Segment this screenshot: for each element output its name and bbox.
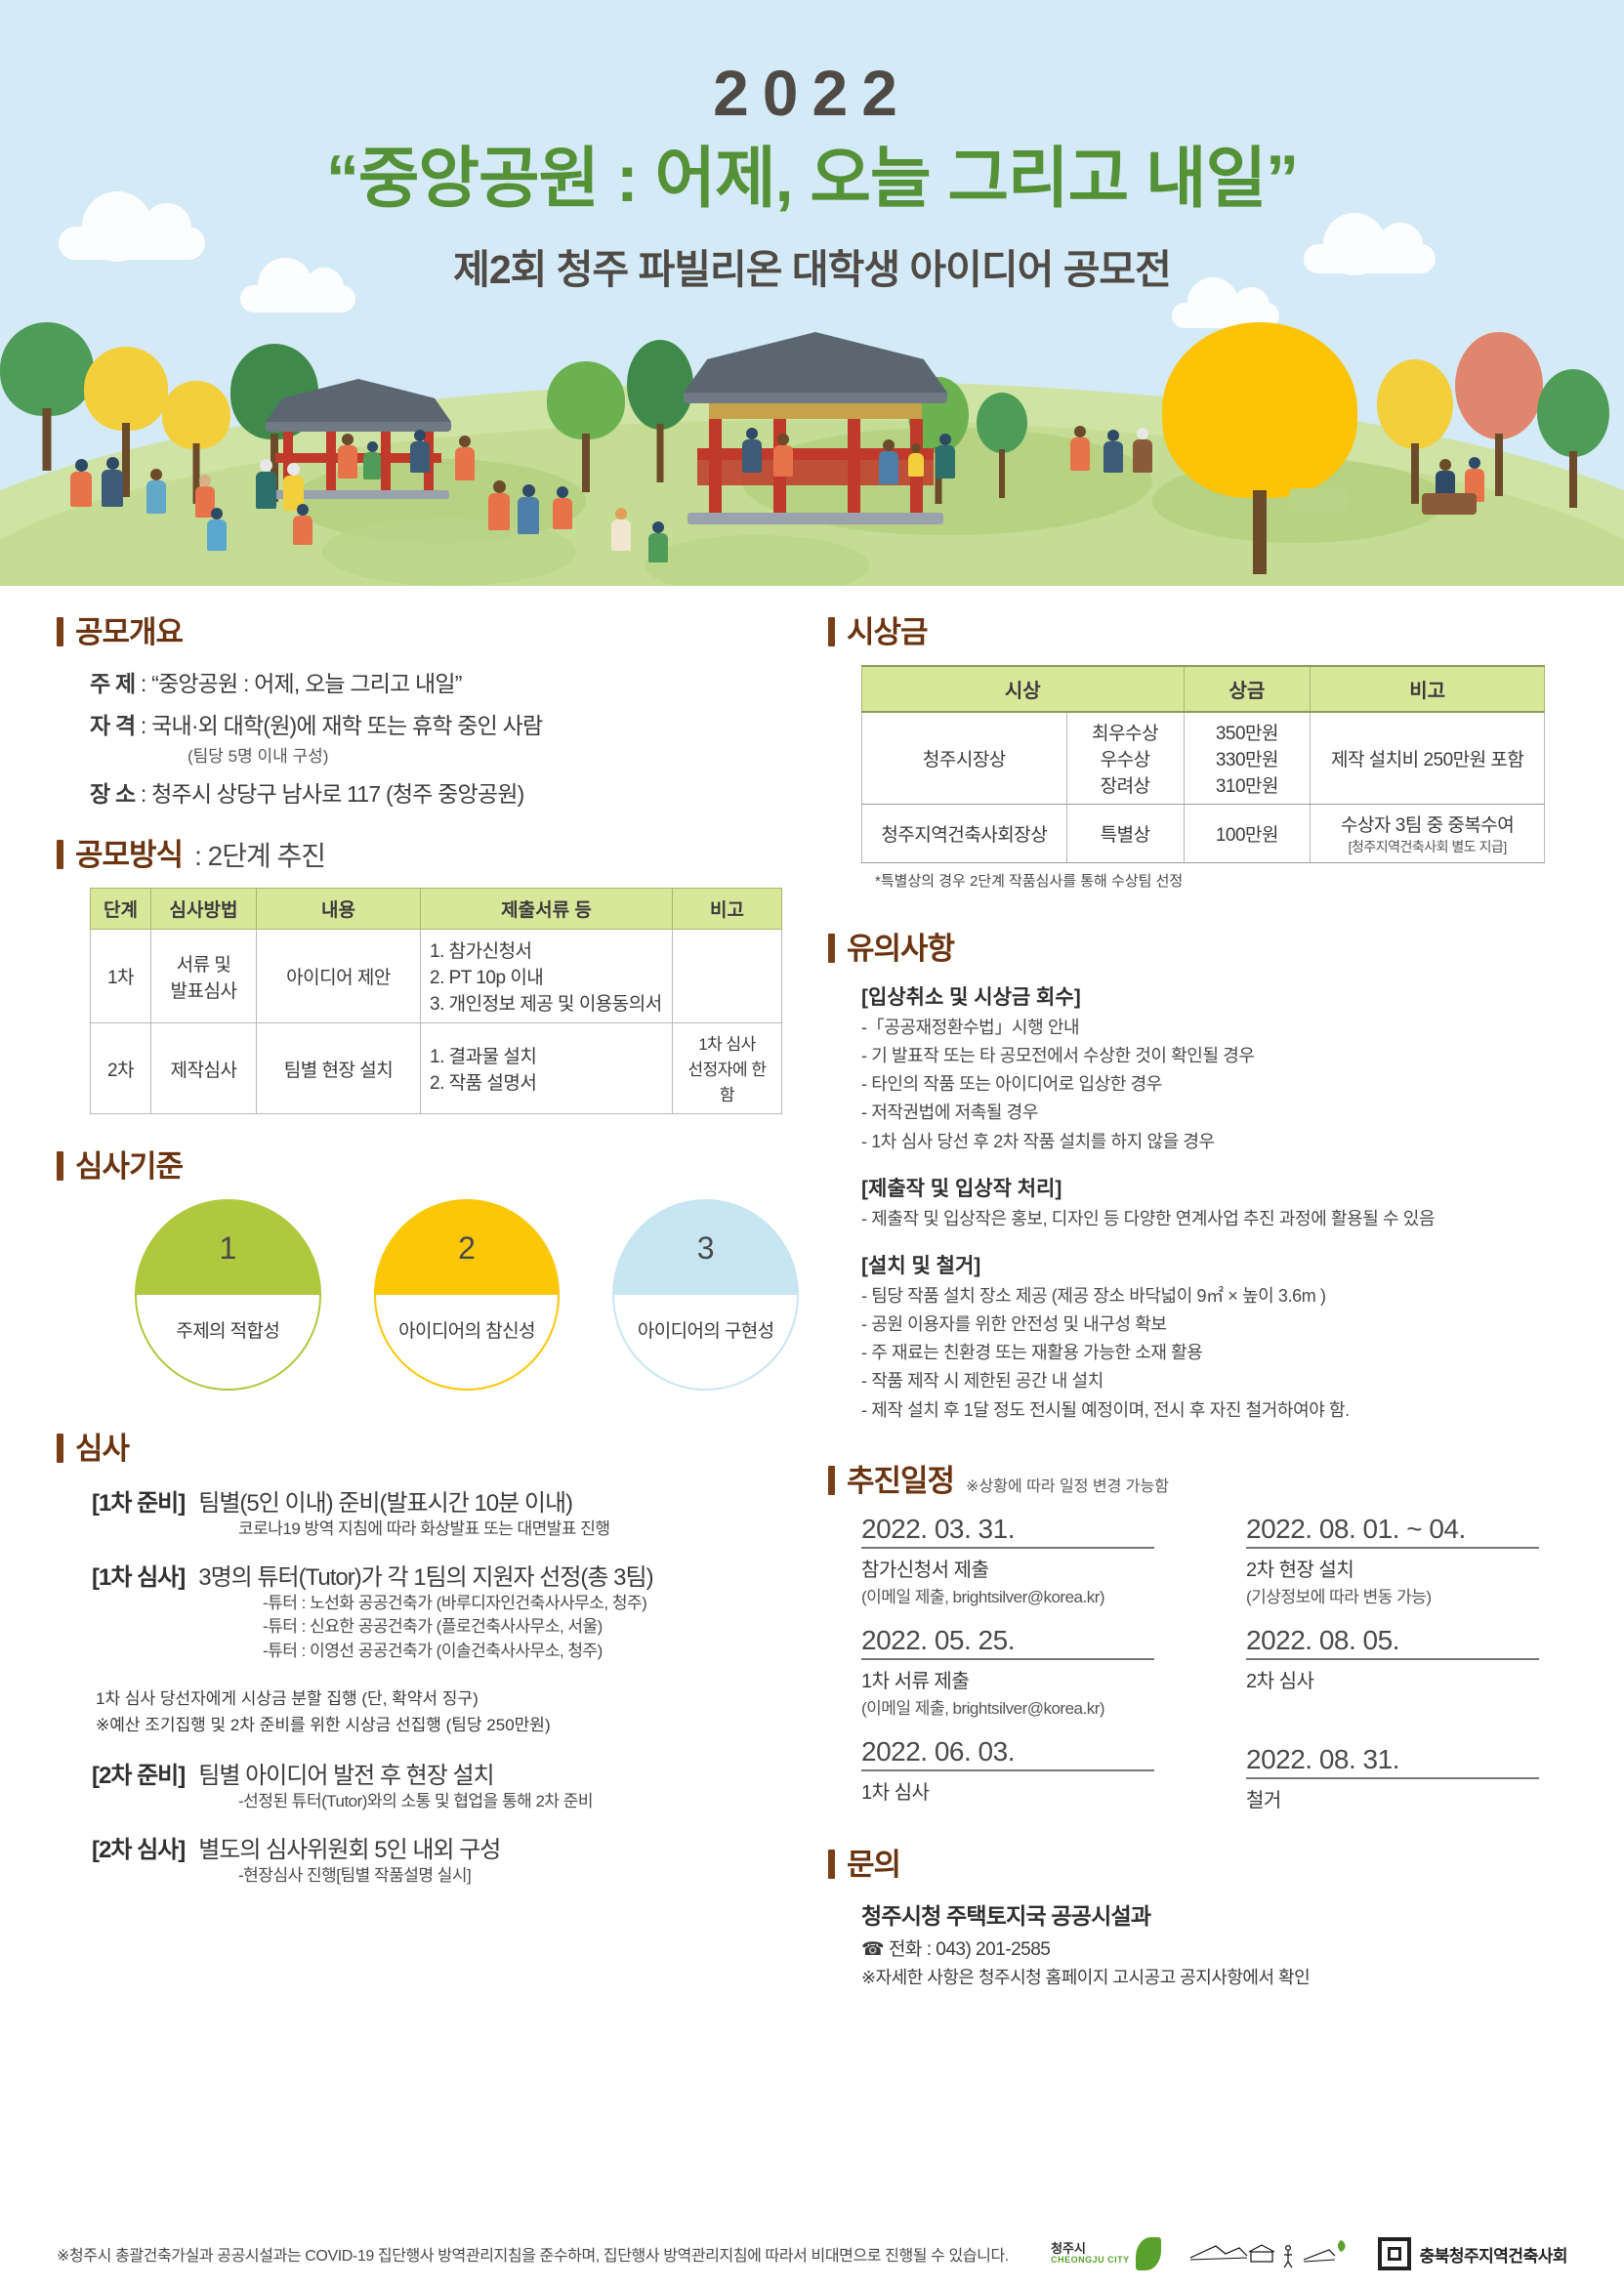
doc-item: 2. 작품 설명서 [430,1068,663,1095]
criteria-number: 3 [614,1201,797,1295]
schedule-item: 2022. 06. 03. 1차 심사 [861,1736,1184,1805]
overview-heading-text: 공모개요 [75,607,183,651]
person-figure [256,459,276,509]
overview-row: 장 소 : 청주시 상당구 남사로 117 (청주 중앙공원) [90,775,799,809]
tree-icon [977,393,1027,453]
person-figure [455,436,475,480]
heading-bar-icon [828,934,835,963]
criteria-label: 주제의 적합성 [137,1295,319,1389]
col-note: 비고 [1311,666,1545,712]
notice-item: -「공공재정환수법」시행 안내 [861,1014,1568,1042]
note-main: 수상자 3팀 중 중복수여 [1318,811,1536,837]
judging-label: [1차 준비] [92,1483,185,1518]
contact-phone-row: ☎ 전화 : 043) 201-2585 [861,1934,1568,1961]
footer-bar: ※청주시 총괄건축가실과 공공시설과는 COVID-19 집단행사 방역관리지침… [0,2220,1624,2288]
notice-item: - 주 재료는 친환경 또는 재활용 가능한 소재 활용 [861,1339,1568,1367]
schedule-col-right: 2022. 08. 01. ~ 04. 2차 현장 설치 (기상정보에 따라 변… [1246,1514,1568,1830]
criteria-heading-text: 심사기준 [75,1142,183,1186]
heading-bar-icon [57,1434,63,1463]
ginkgo-tree-icon [1162,322,1357,498]
cheongju-city-logo: 청주시 CHEONGJU CITY [1051,2237,1161,2270]
person-figure [207,508,227,551]
schedule-date: 2022. 08. 05. [1246,1625,1539,1660]
cell-award: 청주시장상 [862,712,1067,805]
criteria-number: 1 [137,1201,319,1295]
heading-bar-icon [828,617,835,646]
schedule-date: 2022. 05. 25. [861,1625,1154,1660]
contact-phone: 전화 : 043) 201-2585 [889,1939,1050,1960]
cell-docs: 1. 결과물 설치 2. 작품 설명서 [421,1023,673,1114]
prize-heading-text: 시상금 [847,607,928,651]
criteria-circle-1: 1 주제의 적합성 [135,1199,321,1391]
col-method: 심사방법 [151,889,257,930]
tree-icon [1537,369,1609,457]
schedule-label: 참가신청서 제출 [861,1554,1184,1582]
prize-table: 시상 상금 비고 청주시장상 최우수상 우수상 장려상 [861,665,1545,863]
overview-heading: 공모개요 [57,607,799,651]
schedule-heading-text: 추진일정 [847,1456,954,1500]
col-award: 시상 [862,666,1185,712]
notice-group-3: [설치 및 철거] - 팀당 작품 설치 장소 제공 (제공 장소 바닥넓이 9… [861,1250,1568,1425]
tree-icon [162,381,230,449]
cell-award: 청주지역건축사회장상 [862,805,1067,863]
criteria-number: 2 [376,1201,559,1295]
cell-note: 수상자 3팀 중 중복수여 [청주지역건축사회 별도 지급] [1311,805,1545,863]
criteria-circle-3: 3 아이디어의 구현성 [612,1199,799,1391]
judging-heading: 심사 [57,1424,799,1468]
notice-group-1: [입상취소 및 시상금 회수] -「공공재정환수법」시행 안내 - 기 발표작 … [861,981,1568,1156]
person-figure [1070,426,1090,471]
criteria-label: 아이디어의 구현성 [614,1295,797,1389]
judging-block-3: [2차 준비] 팀별 아이디어 발전 후 현장 설치 -선정된 튜터(Tutor… [92,1756,799,1814]
tree-icon [1377,359,1453,449]
heading-bar-icon [57,1151,63,1181]
section-overview: 공모개요 주 제 : “중앙공원 : 어제, 오늘 그리고 내일” 자 격 : … [57,607,799,809]
cell-method: 제작심사 [151,1023,257,1114]
person-figure [410,430,430,473]
judging-heading-text: 심사 [75,1424,129,1468]
overview-key: 장 소 [90,781,135,807]
contact-heading: 문의 [828,1840,1568,1884]
judging-block-1: [1차 준비] 팀별(5인 이내) 준비(발표시간 10분 이내) 코로나19 … [92,1483,799,1542]
judging-note: 1차 심사 당선자에게 시상금 분할 집행 (단, 확약서 징구) [96,1685,799,1712]
left-column: 공모개요 주 제 : “중앙공원 : 어제, 오늘 그리고 내일” 자 격 : … [57,607,799,1989]
schedule-label: 2차 심사 [1246,1665,1568,1693]
notice-item: - 제작 설치 후 1달 정도 전시될 예정이며, 전시 후 자진 철거하여야 … [861,1396,1568,1425]
col-docs: 제출서류 등 [421,889,673,930]
judging-block-4: [2차 심사] 별도의 심사위원회 5인 내외 구성 -현장심사 진행[팀별 작… [92,1830,799,1889]
method-table: 단계 심사방법 내용 제출서류 등 비고 1차 서류 및 발표심사 아이디어 제… [90,888,782,1114]
person-figure [936,434,955,478]
hero-title-group: 2022 “중앙공원 : 어제, 오늘 그리고 내일” 제2회 청주 파빌리온 … [0,0,1624,295]
person-figure [742,428,762,473]
logo-cheongju-ko: 청주시 [1051,2242,1130,2256]
judging-text: 팀별(5인 이내) 준비(발표시간 10분 이내) [198,1483,572,1518]
section-notices: 유의사항 [입상취소 및 시상금 회수] -「공공재정환수법」시행 안내 - 기… [828,924,1568,1425]
grade-item: 장려상 [1075,771,1176,798]
heading-bar-icon [828,1850,835,1879]
poster-year: 2022 [0,61,1624,125]
logo-cheongju-en: CHEONGJU CITY [1051,2256,1130,2265]
leaf-icon [1136,2237,1161,2270]
cell-note: 제작 설치비 250만원 포함 [1311,712,1545,805]
person-figure [293,504,312,545]
person-figure [488,480,510,530]
schedule-note: ※상황에 따라 일정 변경 가능함 [966,1473,1169,1496]
contact-body: 청주시청 주택토지국 공공시설과 ☎ 전화 : 043) 201-2585 ※자… [861,1897,1568,1989]
contact-note: ※자세한 사항은 청주시청 홈페이지 고시공고 공지사항에서 확인 [861,1964,1568,1989]
notice-item: - 작품 제작 시 제한된 공간 내 설치 [861,1367,1568,1395]
footer-logos: 청주시 CHEONGJU CITY 충북청주지역건축사회 [1051,2234,1567,2273]
overview-row: 자 격 : 국내·외 대학(원)에 재학 또는 휴학 중인 사람 (팀당 5명 … [90,707,799,767]
schedule-heading: 추진일정 ※상황에 따라 일정 변경 가능함 [828,1456,1568,1500]
person-figure [363,441,381,479]
cell-method: 서류 및 발표심사 [151,930,257,1023]
section-judging: 심사 [1차 준비] 팀별(5인 이내) 준비(발표시간 10분 이내) 코로나… [57,1424,799,1888]
amount-item: 330만원 [1192,745,1303,771]
contact-org: 청주시청 주택토지국 공공시설과 [861,1897,1568,1931]
overview-value: 청주시 상당구 남사로 117 (청주 중앙공원) [151,781,523,807]
tutor-item: -튜터 : 노선화 공공건축가 (바루디자인건축사사무소, 청주) [263,1592,799,1616]
judging-subnote: -선정된 튜터(Tutor)와의 소통 및 협업을 통해 2차 준비 [238,1790,799,1814]
section-contact: 문의 청주시청 주택토지국 공공시설과 ☎ 전화 : 043) 201-2585… [828,1840,1568,1989]
notice-item: - 공원 이용자를 위한 안전성 및 내구성 확보 [861,1310,1568,1339]
cell-stage: 2차 [91,1023,151,1114]
person-figure [518,484,539,534]
col-stage: 단계 [91,889,151,930]
cell-content: 아이디어 제안 [257,930,421,1023]
schedule-grid: 2022. 03. 31. 참가신청서 제출 (이메일 제출, brightsi… [861,1514,1568,1830]
criteria-heading: 심사기준 [57,1142,799,1186]
criteria-circle-group: 1 주제의 적합성 2 아이디어의 참신성 3 아이디어의 구현성 [135,1199,799,1391]
cell-grades: 특별상 [1066,805,1184,863]
section-prize: 시상금 시상 상금 비고 청주시장상 최우수 [828,607,1568,891]
overview-key: 주 제 [90,671,135,696]
association-name: 충북청주지역건축사회 [1420,2242,1567,2267]
notices-heading: 유의사항 [828,924,1568,968]
schedule-sub: (기상정보에 따라 변동 가능) [1246,1583,1568,1607]
notice-group-title: [설치 및 철거] [861,1250,1568,1279]
schedule-label: 2차 현장 설치 [1246,1554,1568,1582]
tree-icon [1455,332,1543,439]
method-heading: 공모방식 : 2단계 추진 [57,830,799,874]
notice-item: - 1차 심사 당선 후 2차 작품 설치를 하지 않을 경우 [861,1128,1568,1156]
schedule-item: 2022. 05. 25. 1차 서류 제출 (이메일 제출, brightsi… [861,1625,1184,1719]
bench [1289,488,1348,512]
contact-heading-text: 문의 [847,1840,900,1884]
judging-notes: 1차 심사 당선자에게 시상금 분할 집행 (단, 확약서 징구) ※예산 조기… [92,1685,799,1738]
poster-root: 2022 “중앙공원 : 어제, 오늘 그리고 내일” 제2회 청주 파빌리온 … [0,0,1624,2288]
judging-subnote: -현장심사 진행[팀별 작품설명 실시] [238,1864,799,1889]
table-header-row: 단계 심사방법 내용 제출서류 등 비고 [91,889,782,930]
notice-item: - 제출작 및 입상작은 홍보, 디자인 등 다양한 연계사업 추진 과정에 활… [861,1205,1568,1233]
judging-block-2: [1차 심사] 3명의 튜터(Tutor)가 각 1팀의 지원자 선정(총 3팀… [92,1558,799,1664]
person-figure [102,457,123,507]
judging-text: 3명의 튜터(Tutor)가 각 1팀의 지원자 선정(총 3팀) [198,1558,652,1592]
person-figure [648,521,668,562]
cell-content: 팀별 현장 설치 [257,1023,421,1114]
cell-grades: 최우수상 우수상 장려상 [1066,712,1184,805]
heading-bar-icon [57,840,63,869]
schedule-col-left: 2022. 03. 31. 참가신청서 제출 (이메일 제출, brightsi… [861,1514,1184,1830]
table-row: 2차 제작심사 팀별 현장 설치 1. 결과물 설치 2. 작품 설명서 1차 … [91,1023,782,1114]
notice-group-title: [입상취소 및 시상금 회수] [861,981,1568,1011]
notices-heading-text: 유의사항 [847,924,954,968]
person-figure [773,434,793,477]
method-heading-text: 공모방식 [75,830,183,874]
pavilion-sketch-logo [1187,2234,1353,2273]
person-figure [1133,428,1152,473]
doc-item: 1. 참가신청서 [430,936,663,963]
section-schedule: 추진일정 ※상황에 따라 일정 변경 가능함 2022. 03. 31. 참가신… [828,1456,1568,1830]
schedule-item: 2022. 08. 31. 철거 [1246,1744,1568,1812]
criteria-label: 아이디어의 참신성 [376,1295,559,1389]
person-figure [611,508,631,551]
grade-item: 최우수상 [1075,719,1176,745]
schedule-item: 2022. 08. 01. ~ 04. 2차 현장 설치 (기상정보에 따라 변… [1246,1514,1568,1607]
prize-heading: 시상금 [828,607,1568,651]
person-figure [146,469,166,514]
notice-item: - 팀당 작품 설치 장소 제공 (제공 장소 바닥넓이 9㎡ × 높이 3.6… [861,1282,1568,1310]
schedule-sub: (이메일 제출, brightsilver@korea.kr) [861,1583,1184,1607]
overview-value: 국내·외 대학(원)에 재학 또는 휴학 중인 사람 [151,713,542,738]
amount-item: 310만원 [1192,771,1303,798]
schedule-label: 1차 심사 [861,1776,1184,1805]
schedule-date: 2022. 08. 31. [1246,1744,1539,1779]
doc-item: 2. PT 10p 이내 [430,963,663,989]
notice-group-2: [제출작 및 입상작 처리] - 제출작 및 입상작은 홍보, 디자인 등 다양… [861,1173,1568,1233]
col-note: 비고 [673,889,782,930]
person-figure [879,439,898,484]
cell-amounts: 350만원 330만원 310만원 [1184,712,1311,805]
poster-title: “중앙공원 : 어제, 오늘 그리고 내일” [0,141,1624,217]
criteria-circle-2: 2 아이디어의 참신성 [374,1199,561,1391]
prize-footnote: *특별상의 경우 2단계 작품심사를 통해 수상팀 선정 [875,870,1568,891]
section-criteria: 심사기준 1 주제의 적합성 2 아이디어의 참신성 3 아이디어의 구현성 [57,1142,799,1391]
schedule-label: 1차 서류 제출 [861,1665,1184,1693]
architects-association-logo: 충북청주지역건축사회 [1378,2237,1567,2270]
person-figure [908,443,924,477]
section-method: 공모방식 : 2단계 추진 단계 심사방법 내용 제출서류 등 비고 [57,830,799,1114]
cell-docs: 1. 참가신청서 2. PT 10p 이내 3. 개인정보 제공 및 이용동의서 [421,930,673,1023]
doc-item: 1. 결과물 설치 [430,1042,663,1068]
cell-amounts: 100만원 [1184,805,1311,863]
overview-row: 주 제 : “중앙공원 : 어제, 오늘 그리고 내일” [90,665,799,698]
overview-value: “중앙공원 : 어제, 오늘 그리고 내일” [151,671,462,696]
judging-note: ※예산 조기집행 및 2차 준비를 위한 시상금 선집행 (팀당 250만원) [96,1712,799,1738]
footer-disclaimer: ※청주시 총괄건축가실과 공공시설과는 COVID-19 집단행사 방역관리지침… [57,2242,1009,2266]
schedule-label: 철거 [1246,1784,1568,1812]
notice-item: - 기 발표작 또는 타 공모전에서 수상한 것이 확인될 경우 [861,1042,1568,1070]
notice-item: - 저작권법에 저촉될 경우 [861,1099,1568,1127]
judging-label: [1차 심사] [92,1558,185,1592]
judging-label: [2차 심사] [92,1830,185,1864]
notice-item: - 타인의 작품 또는 아이디어로 입상한 경우 [861,1070,1568,1099]
schedule-item: 2022. 08. 05. 2차 심사 [1246,1625,1568,1693]
person-figure [1103,430,1123,473]
tutor-item: -튜터 : 이영선 공공건축가 (이솔건축사사무소, 청주) [263,1640,799,1664]
method-heading-extra: : 2단계 추진 [194,835,325,874]
right-column: 시상금 시상 상금 비고 청주시장상 최우수 [828,607,1568,1989]
hero-banner: 2022 “중앙공원 : 어제, 오늘 그리고 내일” 제2회 청주 파빌리온 … [0,0,1624,586]
note-sub: [청주지역건축사회 별도 지급] [1318,837,1536,856]
judging-text: 팀별 아이디어 발전 후 현장 설치 [198,1756,493,1790]
col-amount: 상금 [1184,666,1311,712]
tree-icon [84,347,168,431]
seal-icon [1378,2237,1411,2270]
tree-icon [547,361,625,439]
heading-bar-icon [828,1466,835,1495]
person-figure [338,434,357,478]
table-header-row: 시상 상금 비고 [862,666,1545,712]
person-figure [553,486,572,529]
schedule-date: 2022. 08. 01. ~ 04. [1246,1514,1539,1549]
bench [1422,493,1477,515]
heading-bar-icon [57,617,63,646]
grade-item: 우수상 [1075,745,1176,771]
content-area: 공모개요 주 제 : “중앙공원 : 어제, 오늘 그리고 내일” 자 격 : … [0,586,1624,1989]
person-figure [70,459,92,507]
amount-item: 350만원 [1192,719,1303,745]
cell-stage: 1차 [91,930,151,1023]
overview-subnote: (팀당 5명 이내 구성) [187,742,799,767]
table-row: 청주시장상 최우수상 우수상 장려상 350만원 330만원 310만원 [862,712,1545,805]
schedule-date: 2022. 06. 03. [861,1736,1154,1771]
tutor-item: -튜터 : 신요한 공공건축가 (플로건축사사무소, 서울) [263,1615,799,1640]
poster-subtitle: 제2회 청주 파빌리온 대학생 아이디어 공모전 [0,236,1624,295]
judging-subnote: 코로나19 방역 지침에 따라 화상발표 또는 대면발표 진행 [238,1518,799,1542]
judging-label: [2차 준비] [92,1756,185,1790]
overview-key: 자 격 [90,713,135,738]
table-row: 청주지역건축사회장상 특별상 100만원 수상자 3팀 중 중복수여 [청주지역… [862,805,1545,863]
tree-icon [0,322,94,416]
doc-item: 3. 개인정보 제공 및 이용동의서 [430,989,663,1016]
pavilion-icon [684,332,947,524]
schedule-date: 2022. 03. 31. [861,1514,1154,1549]
cell-note [673,930,782,1023]
col-content: 내용 [257,889,421,930]
cell-note: 1차 심사 선정자에 한함 [673,1023,782,1114]
notice-group-title: [제출작 및 입상작 처리] [861,1173,1568,1202]
schedule-sub: (이메일 제출, brightsilver@korea.kr) [861,1694,1184,1719]
judging-text: 별도의 심사위원회 5인 내외 구성 [198,1830,500,1864]
schedule-item: 2022. 03. 31. 참가신청서 제출 (이메일 제출, brightsi… [861,1514,1184,1607]
table-row: 1차 서류 및 발표심사 아이디어 제안 1. 참가신청서 2. PT 10p … [91,930,782,1023]
phone-icon: ☎ [861,1939,884,1960]
